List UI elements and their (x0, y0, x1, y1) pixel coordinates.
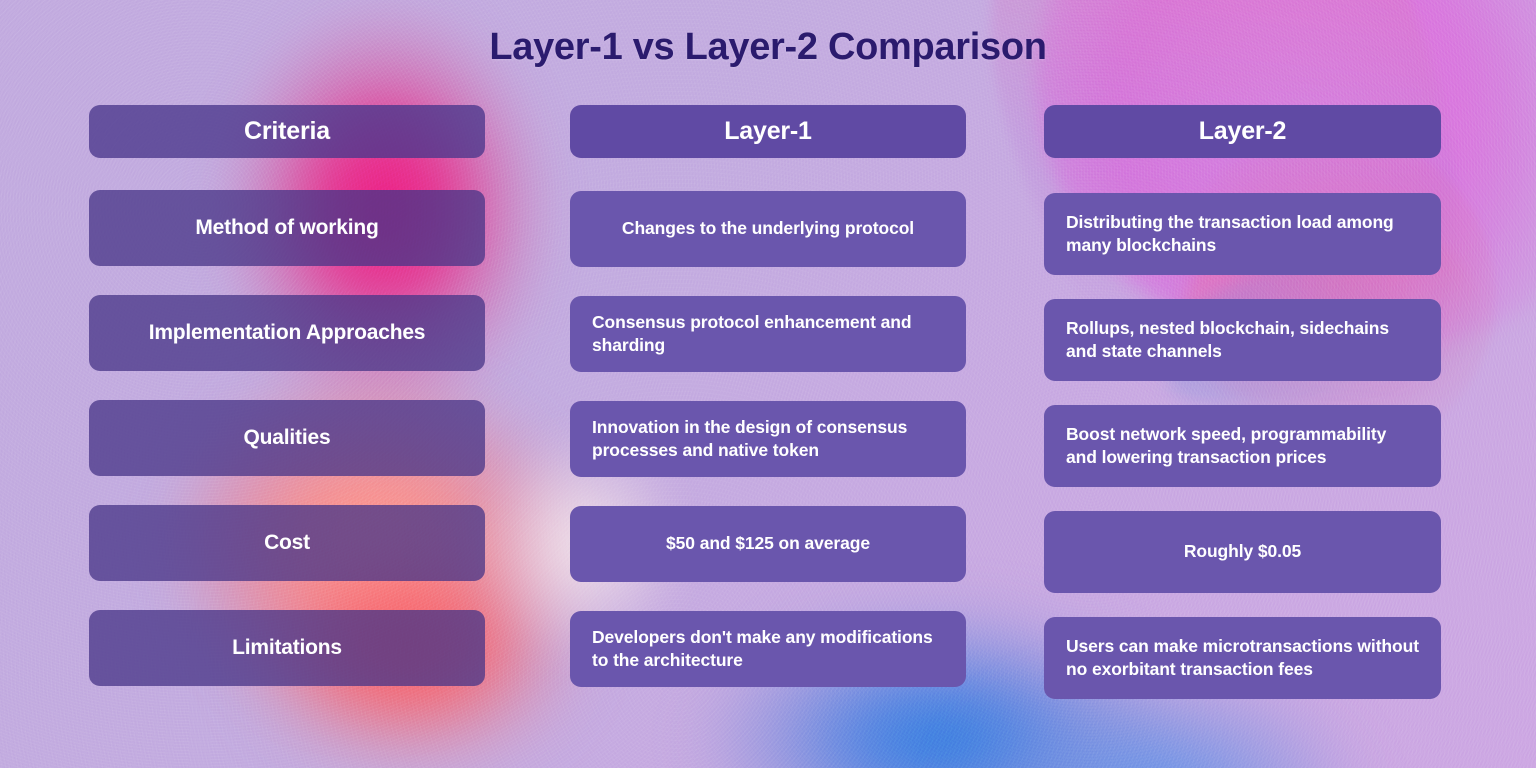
column-header-layer-1: Layer-1 (570, 105, 966, 158)
layer1-cell-implementation-approaches: Consensus protocol enhancement and shard… (570, 296, 966, 372)
criteria-cell-implementation-approaches: Implementation Approaches (89, 295, 485, 371)
layer1-cell-qualities: Innovation in the design of consensus pr… (570, 401, 966, 477)
criteria-cell-qualities: Qualities (89, 400, 485, 476)
criteria-cell-method-of-working: Method of working (89, 190, 485, 266)
layer1-cell-cost: $50 and $125 on average (570, 506, 966, 582)
criteria-cell-cost: Cost (89, 505, 485, 581)
layer2-cell-limitations: Users can make microtransactions without… (1044, 617, 1441, 699)
layer1-cell-limitations: Developers don't make any modifications … (570, 611, 966, 687)
layer2-cell-method-of-working: Distributing the transaction load among … (1044, 193, 1441, 275)
criteria-cell-limitations: Limitations (89, 610, 485, 686)
infographic-stage: Layer-1 vs Layer-2 Comparison Criteria M… (0, 0, 1536, 768)
column-header-layer-2: Layer-2 (1044, 105, 1441, 158)
column-header-criteria: Criteria (89, 105, 485, 158)
page-title: Layer-1 vs Layer-2 Comparison (0, 26, 1536, 69)
layer2-cell-qualities: Boost network speed, programmability and… (1044, 405, 1441, 487)
layer2-cell-cost: Roughly $0.05 (1044, 511, 1441, 593)
layer2-cell-implementation-approaches: Rollups, nested blockchain, sidechains a… (1044, 299, 1441, 381)
layer1-cell-method-of-working: Changes to the underlying protocol (570, 191, 966, 267)
